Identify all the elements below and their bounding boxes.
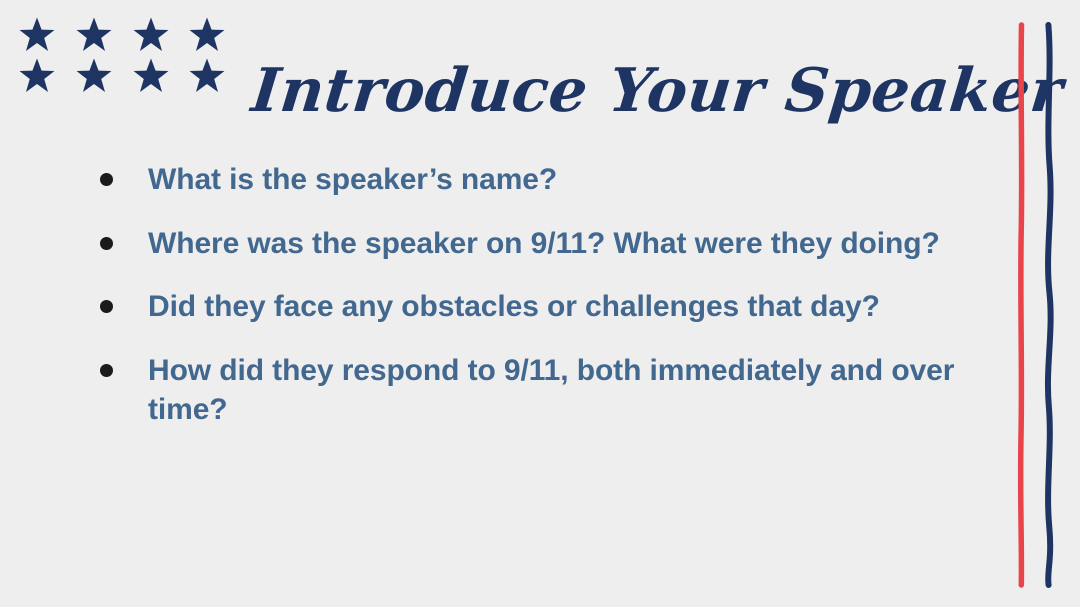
- star-icon: [18, 57, 56, 95]
- slide-canvas: Introduce Your Speaker What is the speak…: [0, 0, 1080, 607]
- star-icon: [132, 16, 170, 54]
- star-icon: [188, 16, 226, 54]
- bullet-marker-icon: [100, 300, 113, 313]
- list-item-label: Did they face any obstacles or challenge…: [148, 287, 956, 327]
- page-title: Introduce Your Speaker: [247, 46, 876, 136]
- bullet-list: What is the speaker’s name? Where was th…: [96, 160, 956, 430]
- red-vertical-rule-path: [1021, 25, 1022, 585]
- navy-vertical-rule-path: [1048, 25, 1051, 585]
- list-item-label: Where was the speaker on 9/11? What were…: [148, 224, 956, 264]
- bullet-marker-icon: [100, 237, 113, 250]
- star-icon: [188, 57, 226, 95]
- list-item: Did they face any obstacles or challenge…: [96, 287, 956, 327]
- list-item-label: What is the speaker’s name?: [148, 160, 956, 200]
- list-item: What is the speaker’s name?: [96, 160, 956, 200]
- list-item: Where was the speaker on 9/11? What were…: [96, 224, 956, 264]
- bullet-marker-icon: [100, 173, 113, 186]
- list-item: How did they respond to 9/11, both immed…: [96, 351, 956, 430]
- star-cluster: [18, 16, 232, 100]
- list-item-label: How did they respond to 9/11, both immed…: [148, 351, 956, 430]
- star-icon: [132, 57, 170, 95]
- edge-rule-group: [1000, 0, 1080, 607]
- star-icon: [75, 16, 113, 54]
- star-icon: [18, 16, 56, 54]
- star-icon: [75, 57, 113, 95]
- bullet-marker-icon: [100, 364, 113, 377]
